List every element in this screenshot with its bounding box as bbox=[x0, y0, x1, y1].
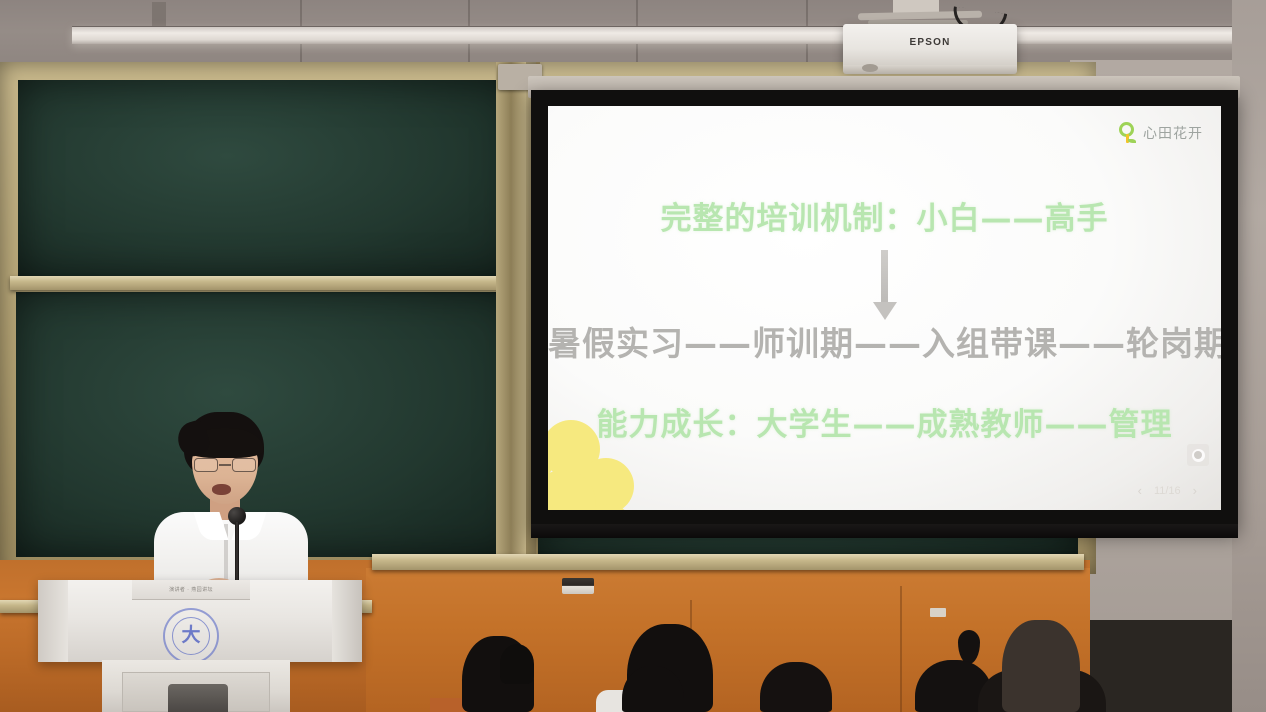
slide-line-2: 暑假实习——师训期——入组带课——轮岗期 bbox=[548, 326, 1221, 362]
glasses-icon bbox=[194, 458, 256, 472]
light-bracket bbox=[152, 2, 166, 28]
blackboard-hinge bbox=[496, 62, 526, 574]
chalk-eraser bbox=[562, 578, 594, 594]
presenter-avatar-icon[interactable] bbox=[1187, 444, 1209, 466]
prev-slide-button[interactable]: ‹ bbox=[1138, 483, 1142, 498]
podium-right-face bbox=[332, 580, 362, 662]
screen-bottom-bar bbox=[531, 524, 1238, 538]
next-slide-button[interactable]: › bbox=[1193, 483, 1197, 498]
slide-line-3: 能力成长：大学生——成熟教师——管理 bbox=[548, 408, 1221, 442]
projected-slide[interactable]: 心田花开 完整的培训机制：小白——高手 暑假实习——师训期——入组带课——轮岗期… bbox=[548, 106, 1221, 510]
projection-screen-border: 心田花开 完整的培训机制：小白——高手 暑假实习——师训期——入组带课——轮岗期… bbox=[531, 90, 1238, 530]
classroom-scene: EPSON 心田花开 完整的 bbox=[0, 0, 1266, 712]
slide-pager: ‹ 11/16 › bbox=[1138, 483, 1197, 498]
chalk-rail bbox=[10, 276, 522, 290]
wood-seam bbox=[900, 586, 902, 712]
presenter-mouth bbox=[212, 484, 231, 495]
wall-switch[interactable] bbox=[930, 608, 946, 617]
chalk-rail-right bbox=[372, 554, 1084, 570]
slide-line-1: 完整的培训机制：小白——高手 bbox=[548, 202, 1221, 236]
down-arrow-icon bbox=[548, 248, 1221, 326]
audience-head bbox=[500, 644, 534, 684]
projector-body: EPSON bbox=[843, 24, 1017, 69]
podium-name-plate: 演讲者 · 燕园讲坛 bbox=[132, 580, 250, 600]
fluorescent-light-icon bbox=[72, 26, 1266, 44]
podium-laptop bbox=[168, 684, 228, 712]
blackboard-panel-upper-left bbox=[18, 80, 516, 280]
slide-position-label: 11/16 bbox=[1154, 485, 1181, 497]
audience-head bbox=[1002, 620, 1080, 712]
projector-brand-label: EPSON bbox=[843, 37, 1017, 48]
podium-left-face bbox=[38, 580, 68, 662]
emblem-glyph: 大 bbox=[179, 622, 203, 650]
slide-content: 完整的培训机制：小白——高手 暑假实习——师训期——入组带课——轮岗期 能力成长… bbox=[548, 106, 1221, 510]
projector-lens-icon bbox=[862, 64, 878, 72]
university-emblem-icon: 大 bbox=[163, 608, 219, 664]
podium-plate-text: 演讲者 · 燕园讲坛 bbox=[169, 586, 213, 593]
